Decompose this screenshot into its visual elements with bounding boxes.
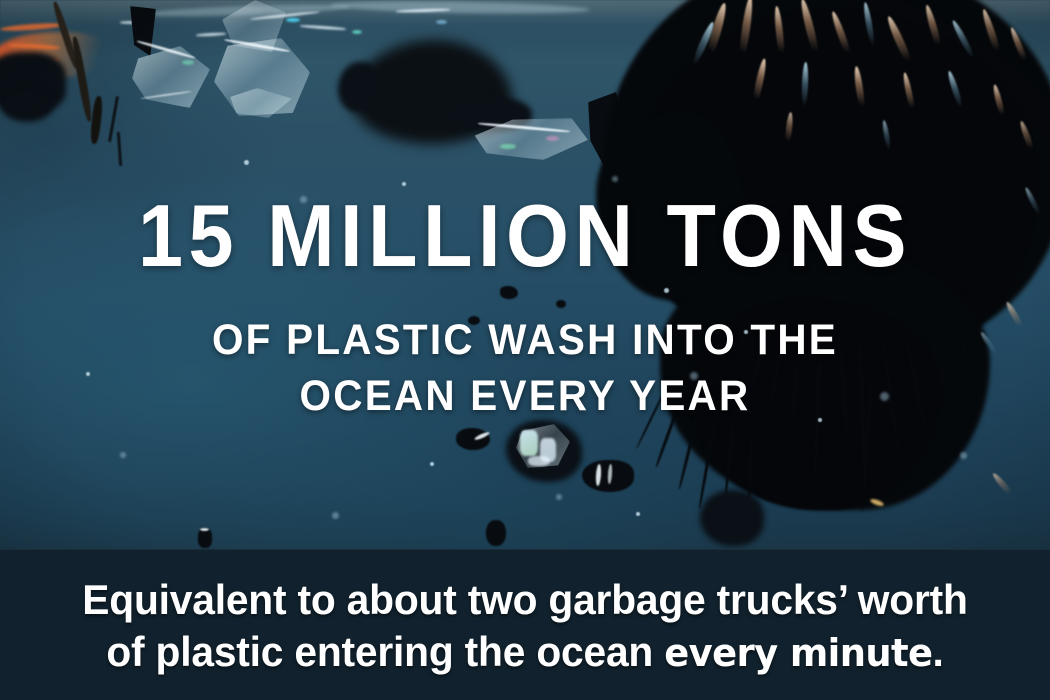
caption-bar: Equivalent to about two garbage trucks’ … <box>0 549 1050 700</box>
subheadline-line-2: OCEAN EVERY YEAR <box>32 368 1019 424</box>
infographic-poster: 15 MILLION TONS OF PLASTIC WASH INTO THE… <box>0 0 1050 700</box>
caption-line-2-prefix: of plastic entering the ocean <box>106 628 664 675</box>
caption-emphasis: every minute <box>664 631 932 675</box>
caption-line-2: of plastic entering the ocean every minu… <box>16 626 1035 679</box>
caption-text: Equivalent to about two garbage trucks’ … <box>16 574 1035 679</box>
headline: 15 MILLION TONS <box>42 192 1008 280</box>
subheadline-line-1: OF PLASTIC WASH INTO THE <box>32 312 1019 368</box>
subheadline: OF PLASTIC WASH INTO THE OCEAN EVERY YEA… <box>32 312 1019 424</box>
caption-line-2-suffix: . <box>932 628 943 675</box>
caption-line-1: Equivalent to about two garbage trucks’ … <box>16 574 1035 626</box>
